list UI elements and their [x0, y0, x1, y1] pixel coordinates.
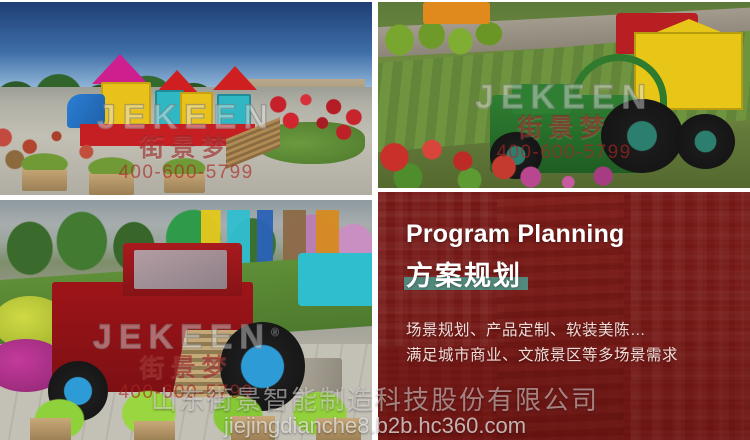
planter-box: [89, 172, 134, 195]
planter-box: [134, 421, 175, 440]
orange-vehicle: [423, 2, 490, 24]
planter-box: [30, 418, 71, 440]
photo-top-left: JEKEEN 街景梦 400-600-5799: [0, 2, 372, 195]
promo-desc-line-2: 满足城市商业、文旅景区等多场景需求: [406, 343, 740, 368]
pink-flower-bed: [504, 155, 638, 188]
promo-title-en: Program Planning: [406, 222, 740, 247]
green-tractor-cab: [512, 84, 572, 114]
cyan-panel: [217, 94, 250, 128]
promo-title-cn-wrap: 方案规划: [406, 262, 522, 292]
cyan-tractor: [298, 253, 372, 306]
cab-window: [134, 250, 227, 288]
red-roof-right: [213, 66, 257, 90]
promo-description: 场景规划、产品定制、软装美陈… 满足城市商业、文旅景区等多场景需求: [406, 318, 740, 368]
promo-collage: JEKEEN 街景梦 400-600-5799 JEKEEN 街景梦 400-6…: [0, 0, 750, 440]
photo-bottom-left: JEKEEN® 街景梦 400-600-5799: [0, 200, 372, 440]
promo-title-cn: 方案规划: [406, 262, 522, 292]
planter-box: [316, 418, 361, 440]
photo-top-right: JEKEEN 街景梦 400-600-5799: [378, 2, 750, 188]
planter-box: [164, 172, 205, 193]
promo-text-block: Program Planning 方案规划 场景规划、产品定制、软装美陈… 满足…: [406, 222, 740, 368]
promo-panel: Program Planning 方案规划 场景规划、产品定制、软装美陈… 满足…: [378, 192, 750, 440]
yellow-panel: [180, 92, 213, 128]
magenta-roof: [92, 54, 148, 84]
promo-desc-line-1: 场景规划、产品定制、软装美陈…: [406, 318, 740, 343]
house-wheel: [676, 114, 736, 170]
planter-box: [231, 416, 276, 440]
planter-box: [22, 168, 67, 191]
